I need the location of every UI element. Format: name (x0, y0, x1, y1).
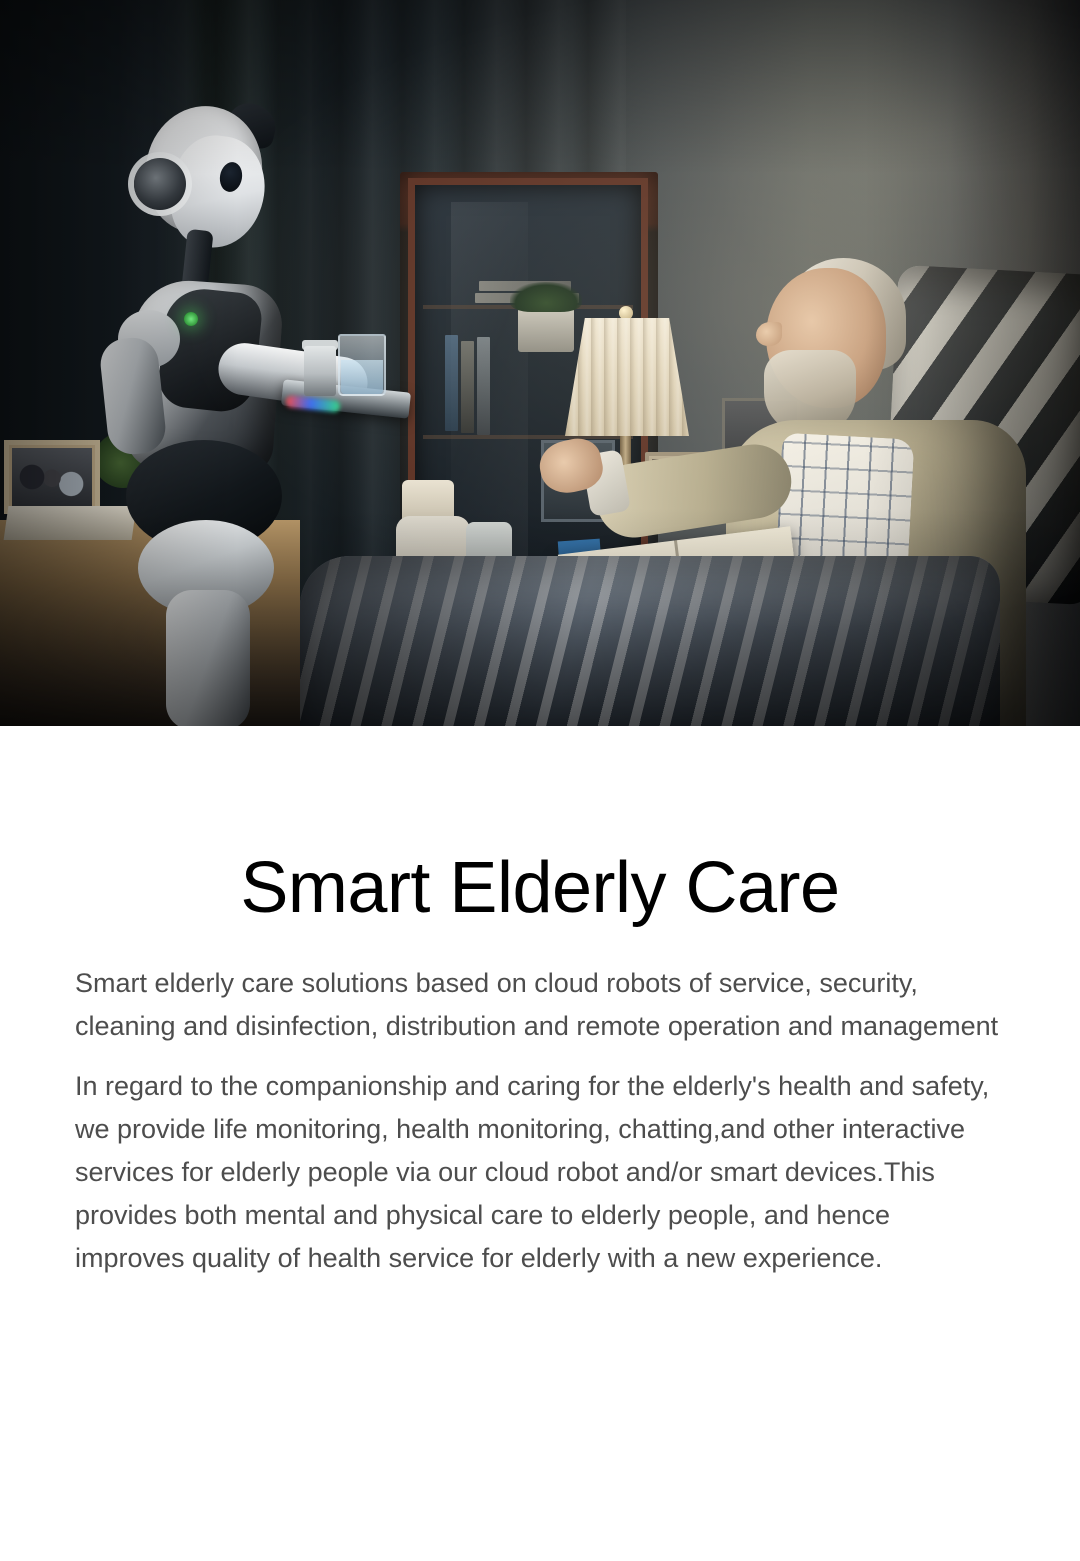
robot-status-led (184, 312, 198, 326)
mans-nose (756, 322, 782, 346)
water-in-glass (341, 360, 383, 394)
lamp-finial (619, 306, 633, 320)
page-root: Smart Elderly Care Smart elderly care so… (0, 0, 1080, 1561)
hero-scene (0, 0, 1080, 726)
paragraph-1: Smart elderly care solutions based on cl… (75, 962, 1007, 1048)
shelf-book (477, 337, 490, 435)
robot-leg (166, 590, 250, 726)
desk-photo (12, 448, 92, 506)
pill-bottle (304, 346, 336, 396)
shelf-book (445, 335, 458, 431)
page-title: Smart Elderly Care (0, 848, 1080, 928)
body-copy: Smart elderly care solutions based on cl… (75, 962, 1007, 1280)
table-lamp-shade (565, 318, 689, 436)
lamp-pleats (565, 318, 689, 436)
desk-picture-frame (4, 440, 100, 514)
potted-plant (518, 308, 574, 352)
content-section: Smart Elderly Care Smart elderly care so… (0, 726, 1080, 1561)
paragraph-2: In regard to the companionship and carin… (75, 1065, 1007, 1280)
robot-ear-sensor (134, 158, 186, 210)
hero-photo (0, 0, 1080, 726)
shelf-book (461, 341, 474, 433)
